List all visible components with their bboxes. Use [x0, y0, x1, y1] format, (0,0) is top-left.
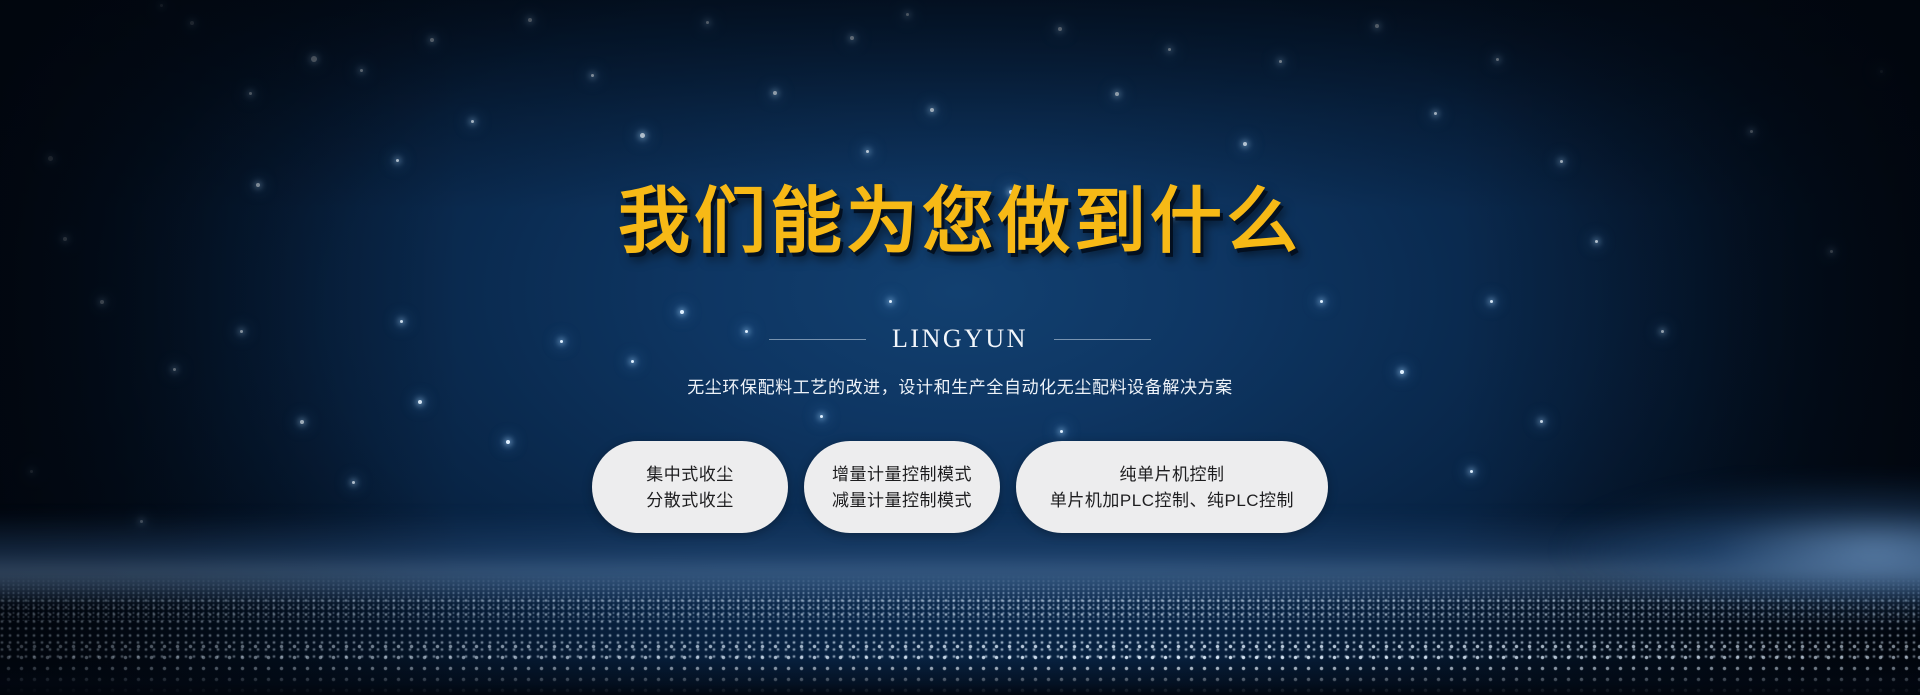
divider-line-right	[1054, 339, 1151, 340]
banner-content: 我们能为您做到什么 LINGYUN 无尘环保配料工艺的改进，设计和生产全自动化无…	[0, 0, 1920, 695]
feature-pill-group: 集中式收尘 分散式收尘 增量计量控制模式 减量计量控制模式 纯单片机控制 单片机…	[592, 441, 1328, 533]
divider-line-left	[769, 339, 866, 340]
pill-line: 集中式收尘	[646, 466, 734, 483]
pill-line: 减量计量控制模式	[832, 492, 972, 509]
feature-pill-metering-mode[interactable]: 增量计量控制模式 减量计量控制模式	[804, 441, 1000, 533]
pill-line: 分散式收尘	[646, 492, 734, 509]
feature-pill-dust-collection[interactable]: 集中式收尘 分散式收尘	[592, 441, 788, 533]
feature-pill-control-system[interactable]: 纯单片机控制 单片机加PLC控制、纯PLC控制	[1016, 441, 1328, 533]
page-title: 我们能为您做到什么	[618, 186, 1302, 258]
pill-line: 纯单片机控制	[1120, 466, 1225, 483]
brand-name: LINGYUN	[892, 324, 1028, 354]
brand-subtitle-row: LINGYUN	[769, 324, 1151, 354]
pill-line: 增量计量控制模式	[832, 466, 972, 483]
hero-banner: 我们能为您做到什么 LINGYUN 无尘环保配料工艺的改进，设计和生产全自动化无…	[0, 0, 1920, 695]
banner-description: 无尘环保配料工艺的改进，设计和生产全自动化无尘配料设备解决方案	[687, 373, 1233, 398]
pill-line: 单片机加PLC控制、纯PLC控制	[1050, 492, 1294, 509]
